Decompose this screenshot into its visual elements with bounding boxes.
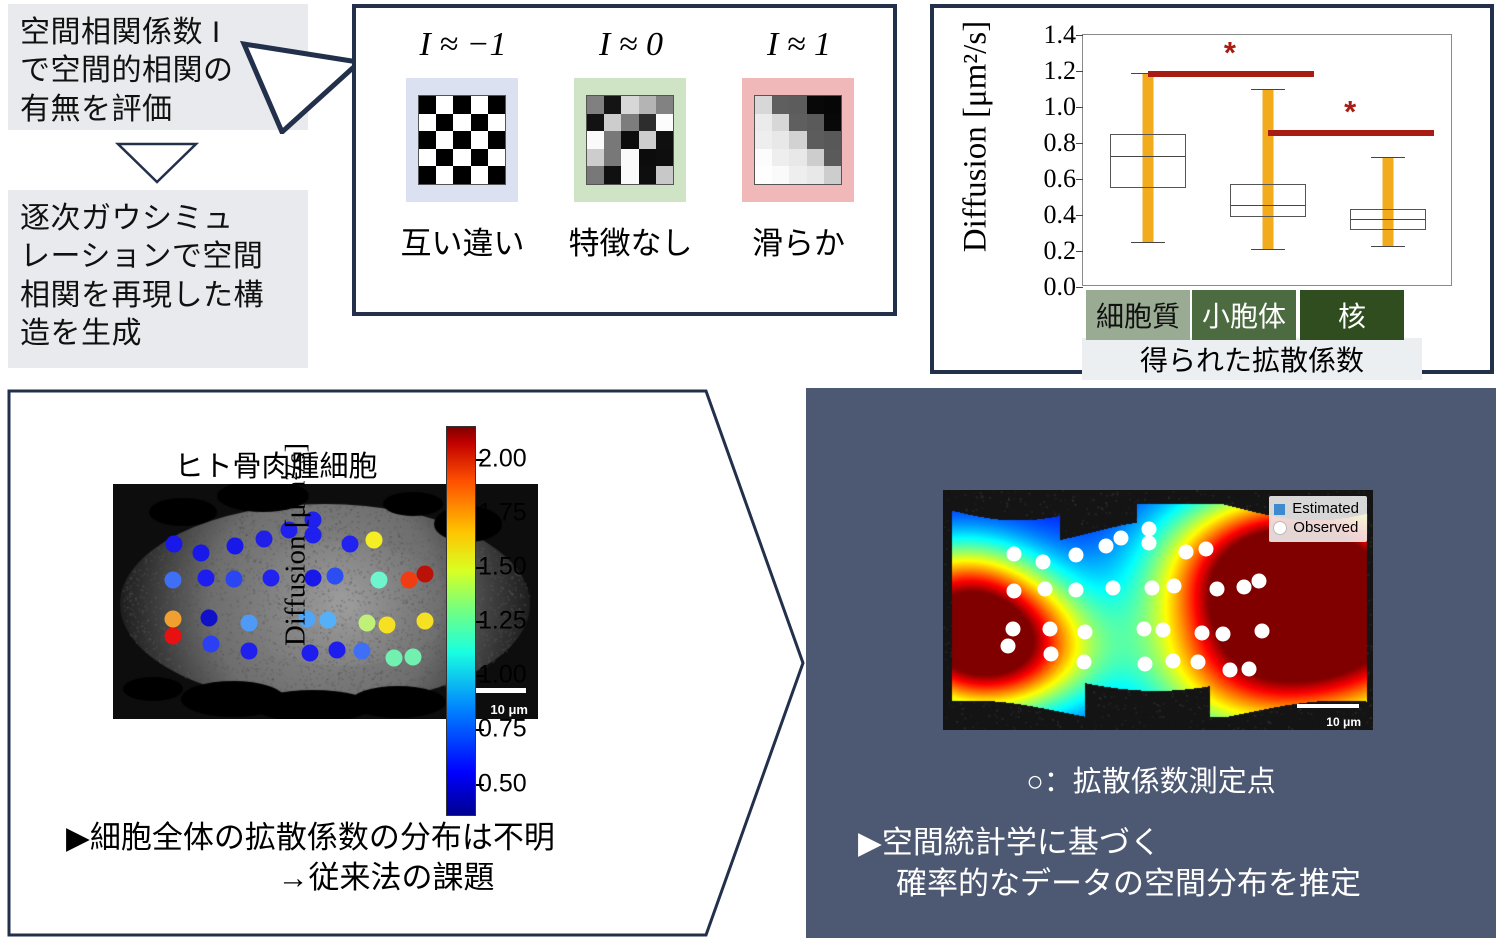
colorbar-tick: 1.75 xyxy=(478,498,527,527)
diffusion-data-point xyxy=(241,643,258,660)
legend-label: Observed xyxy=(1293,519,1358,538)
boxplot-whisker-cap xyxy=(1251,249,1285,250)
significance-bar xyxy=(1268,130,1434,136)
boxplot-whisker xyxy=(1383,157,1394,245)
grid-random xyxy=(586,95,674,185)
observed-point xyxy=(1195,625,1210,640)
observed-point xyxy=(1223,662,1238,677)
boxplot-y-tick-mark xyxy=(1076,179,1083,180)
left-caption-line-2: →従来法の課題 xyxy=(66,858,706,898)
boxplot-y-tick-mark xyxy=(1076,107,1083,108)
scalebar-label: 10 μm xyxy=(1326,715,1361,729)
observed-point xyxy=(1042,622,1057,637)
observed-point xyxy=(1145,580,1160,595)
observed-point xyxy=(1077,625,1092,640)
colorbar-tick: 2.00 xyxy=(478,444,527,473)
diffusion-data-point xyxy=(379,616,396,633)
colorbar-gradient xyxy=(446,426,476,816)
diffusion-data-point xyxy=(202,635,219,652)
grid-smooth xyxy=(754,95,842,185)
boxplot-box xyxy=(1110,134,1186,188)
legend-row-1: Observed xyxy=(1274,519,1359,538)
kriging-heatmap-image: EstimatedObserved 10 μm xyxy=(943,490,1373,730)
colorbar-tick-mark xyxy=(476,729,484,731)
pattern-swatch-checkerboard xyxy=(406,78,518,202)
boxplot-median xyxy=(1111,156,1185,157)
boxplot-y-tick: 1.2 xyxy=(1044,56,1077,86)
boxplot-y-axis-label: Diffusion [μm²/s] xyxy=(958,0,995,287)
legend-marker-square-icon xyxy=(1274,504,1285,515)
boxplot-box xyxy=(1230,184,1306,217)
boxplot-y-tick: 0.4 xyxy=(1044,200,1077,230)
colorbar-tick: 0.50 xyxy=(478,769,527,798)
observed-point xyxy=(1069,583,1084,598)
significance-bar xyxy=(1148,71,1314,77)
pattern-caption-1: 特徴なし xyxy=(543,218,718,263)
diffusion-data-point xyxy=(416,565,433,582)
boxplot-whisker-cap xyxy=(1371,246,1405,247)
boxplot-y-tick: 0.2 xyxy=(1044,236,1077,266)
colorbar-tick-mark xyxy=(476,675,484,677)
observed-point xyxy=(1098,538,1113,553)
diffusion-data-point xyxy=(193,545,210,562)
observed-point xyxy=(1114,530,1129,545)
observed-point xyxy=(1137,621,1152,636)
boxplot-y-tick: 0.8 xyxy=(1044,128,1077,158)
colorbar-tick: 0.75 xyxy=(478,715,527,744)
right-panel-caption: ▶空間統計学に基づく 確率的なデータの空間分布を推定 xyxy=(858,823,1498,905)
diffusion-data-point xyxy=(241,615,258,632)
colorbar: 2.001.751.501.251.000.750.50 xyxy=(446,426,476,816)
observed-point xyxy=(1069,547,1084,562)
observed-point xyxy=(1255,624,1270,639)
diffusion-data-point xyxy=(200,609,217,626)
measurement-point-note: ○：拡散係数測定点 xyxy=(806,758,1496,800)
diffusion-data-point xyxy=(366,532,383,549)
diffusion-data-point xyxy=(329,641,346,658)
colorbar-tick-mark xyxy=(476,621,484,623)
formula-label-1: I ≈ 0 xyxy=(546,26,716,64)
down-triangle-outline-icon xyxy=(112,140,202,184)
observed-point xyxy=(1199,541,1214,556)
pattern-caption-0: 互い違い xyxy=(375,218,550,263)
boxplot-whisker xyxy=(1263,89,1274,249)
observed-point xyxy=(1167,579,1182,594)
observed-point xyxy=(1178,544,1193,559)
right-caption-line-1: ▶空間統計学に基づく xyxy=(858,823,1498,864)
grid-checkerboard xyxy=(418,95,506,185)
diffusion-data-point xyxy=(165,611,182,628)
colorbar-tick: 1.50 xyxy=(478,552,527,581)
significance-star: * xyxy=(1224,35,1236,71)
diffusion-data-point xyxy=(165,535,182,552)
right-caption-line-2: 確率的なデータの空間分布を推定 xyxy=(858,864,1498,905)
colorbar-tick: 1.25 xyxy=(478,607,527,636)
left-panel-caption: ▶細胞全体の拡散係数の分布は不明 →従来法の課題 xyxy=(66,818,706,899)
cell-image-title: ヒト骨肉腫細胞 xyxy=(126,443,426,485)
observed-point xyxy=(1105,581,1120,596)
legend-marker-circle-icon xyxy=(1274,522,1286,534)
legend-row-0: Estimated xyxy=(1274,500,1359,519)
observed-point xyxy=(1156,623,1171,638)
flow-step-2: 逐次ガウシミュレーションで空間相関を再現した構造を生成 xyxy=(8,190,308,368)
colorbar-tick-mark xyxy=(476,784,484,786)
left-caption-line-1: ▶細胞全体の拡散係数の分布は不明 xyxy=(66,818,706,858)
colorbar-tick-mark xyxy=(476,459,484,461)
observed-point xyxy=(1141,521,1156,536)
boxplot-y-tick-mark xyxy=(1076,143,1083,144)
observed-point xyxy=(1077,655,1092,670)
pattern-caption-2: 滑らか xyxy=(711,218,886,263)
conventional-method-panel: ヒト骨肉腫細胞 10 μm 2.001.751.501.251.000.750.… xyxy=(6,388,806,938)
diffusion-data-point xyxy=(255,530,272,547)
observed-point xyxy=(1190,655,1205,670)
observed-point xyxy=(1237,580,1252,595)
legend-label: Estimated xyxy=(1292,500,1359,519)
diffusion-data-point xyxy=(319,612,336,629)
diffusion-data-point xyxy=(165,628,182,645)
diffusion-data-point xyxy=(370,572,387,589)
diffusion-data-point xyxy=(226,537,243,554)
heatmap-legend: EstimatedObserved xyxy=(1269,496,1367,542)
diffusion-data-point xyxy=(226,571,243,588)
observed-point xyxy=(1035,555,1050,570)
scalebar-line xyxy=(1297,704,1359,708)
observed-point xyxy=(1138,657,1153,672)
diffusion-data-point xyxy=(263,569,280,586)
observed-point xyxy=(1242,661,1257,676)
boxplot-y-tick-mark xyxy=(1076,71,1083,72)
boxplot-y-tick-mark xyxy=(1076,35,1083,36)
observed-point xyxy=(1166,653,1181,668)
colorbar-tick-mark xyxy=(476,567,484,569)
observed-point xyxy=(1141,536,1156,551)
diffusion-data-point xyxy=(165,572,182,589)
diffusion-data-point xyxy=(359,614,376,631)
observed-point xyxy=(1001,638,1016,653)
diffusion-data-point xyxy=(353,643,370,660)
observed-point xyxy=(1005,621,1020,636)
boxplot-category-0: 細胞質 xyxy=(1086,290,1190,340)
diffusion-data-point xyxy=(417,613,434,630)
observed-point xyxy=(1038,581,1053,596)
significance-star: * xyxy=(1344,94,1356,130)
boxplot-caption: 得られた拡散係数 xyxy=(1082,338,1422,380)
diffusion-data-point xyxy=(197,570,214,587)
observed-point xyxy=(1215,627,1230,642)
formula-label-0: I ≈ −1 xyxy=(378,26,548,64)
boxplot-median xyxy=(1351,219,1425,220)
diffusion-data-point xyxy=(385,650,402,667)
boxplot-y-tick: 0.0 xyxy=(1044,272,1077,302)
diffusion-data-point xyxy=(327,568,344,585)
observed-point xyxy=(1006,546,1021,561)
colorbar-label: Diffusion [μm²/s] xyxy=(280,405,313,685)
observed-point xyxy=(1210,581,1225,596)
boxplot-median xyxy=(1231,205,1305,206)
pattern-swatch-random xyxy=(574,78,686,202)
pattern-swatch-smooth xyxy=(742,78,854,202)
diffusion-data-point xyxy=(404,649,421,666)
spatial-statistics-panel: EstimatedObserved 10 μm ○：拡散係数測定点 ▶空間統計学… xyxy=(806,388,1496,938)
boxplot-whisker-cap xyxy=(1371,157,1405,158)
diffusion-data-point xyxy=(341,535,358,552)
boxplot-y-tick-mark xyxy=(1076,287,1083,288)
boxplot-y-tick: 1.4 xyxy=(1044,20,1077,50)
observed-point xyxy=(1006,583,1021,598)
observed-point xyxy=(1252,573,1267,588)
diffusion-boxplot-panel: Diffusion [μm²/s] 0.00.20.40.60.81.01.21… xyxy=(930,4,1494,374)
boxplot-y-tick: 1.0 xyxy=(1044,92,1077,122)
boxplot-whisker-cap xyxy=(1251,89,1285,90)
observed-point xyxy=(1043,647,1058,662)
colorbar-tick-mark xyxy=(476,513,484,515)
colorbar-tick: 1.00 xyxy=(478,661,527,690)
boxplot-whisker-cap xyxy=(1131,242,1165,243)
boxplot-plot-area: 0.00.20.40.60.81.01.21.4** xyxy=(1082,34,1452,286)
spatial-correlation-callout: I ≈ −1互い違いI ≈ 0特徴なしI ≈ 1滑らか xyxy=(352,4,897,316)
boxplot-y-tick-mark xyxy=(1076,251,1083,252)
boxplot-category-2: 核 xyxy=(1300,290,1404,340)
boxplot-y-tick-mark xyxy=(1076,215,1083,216)
formula-label-2: I ≈ 1 xyxy=(714,26,884,64)
boxplot-y-tick: 0.6 xyxy=(1044,164,1077,194)
boxplot-category-1: 小胞体 xyxy=(1192,290,1296,340)
